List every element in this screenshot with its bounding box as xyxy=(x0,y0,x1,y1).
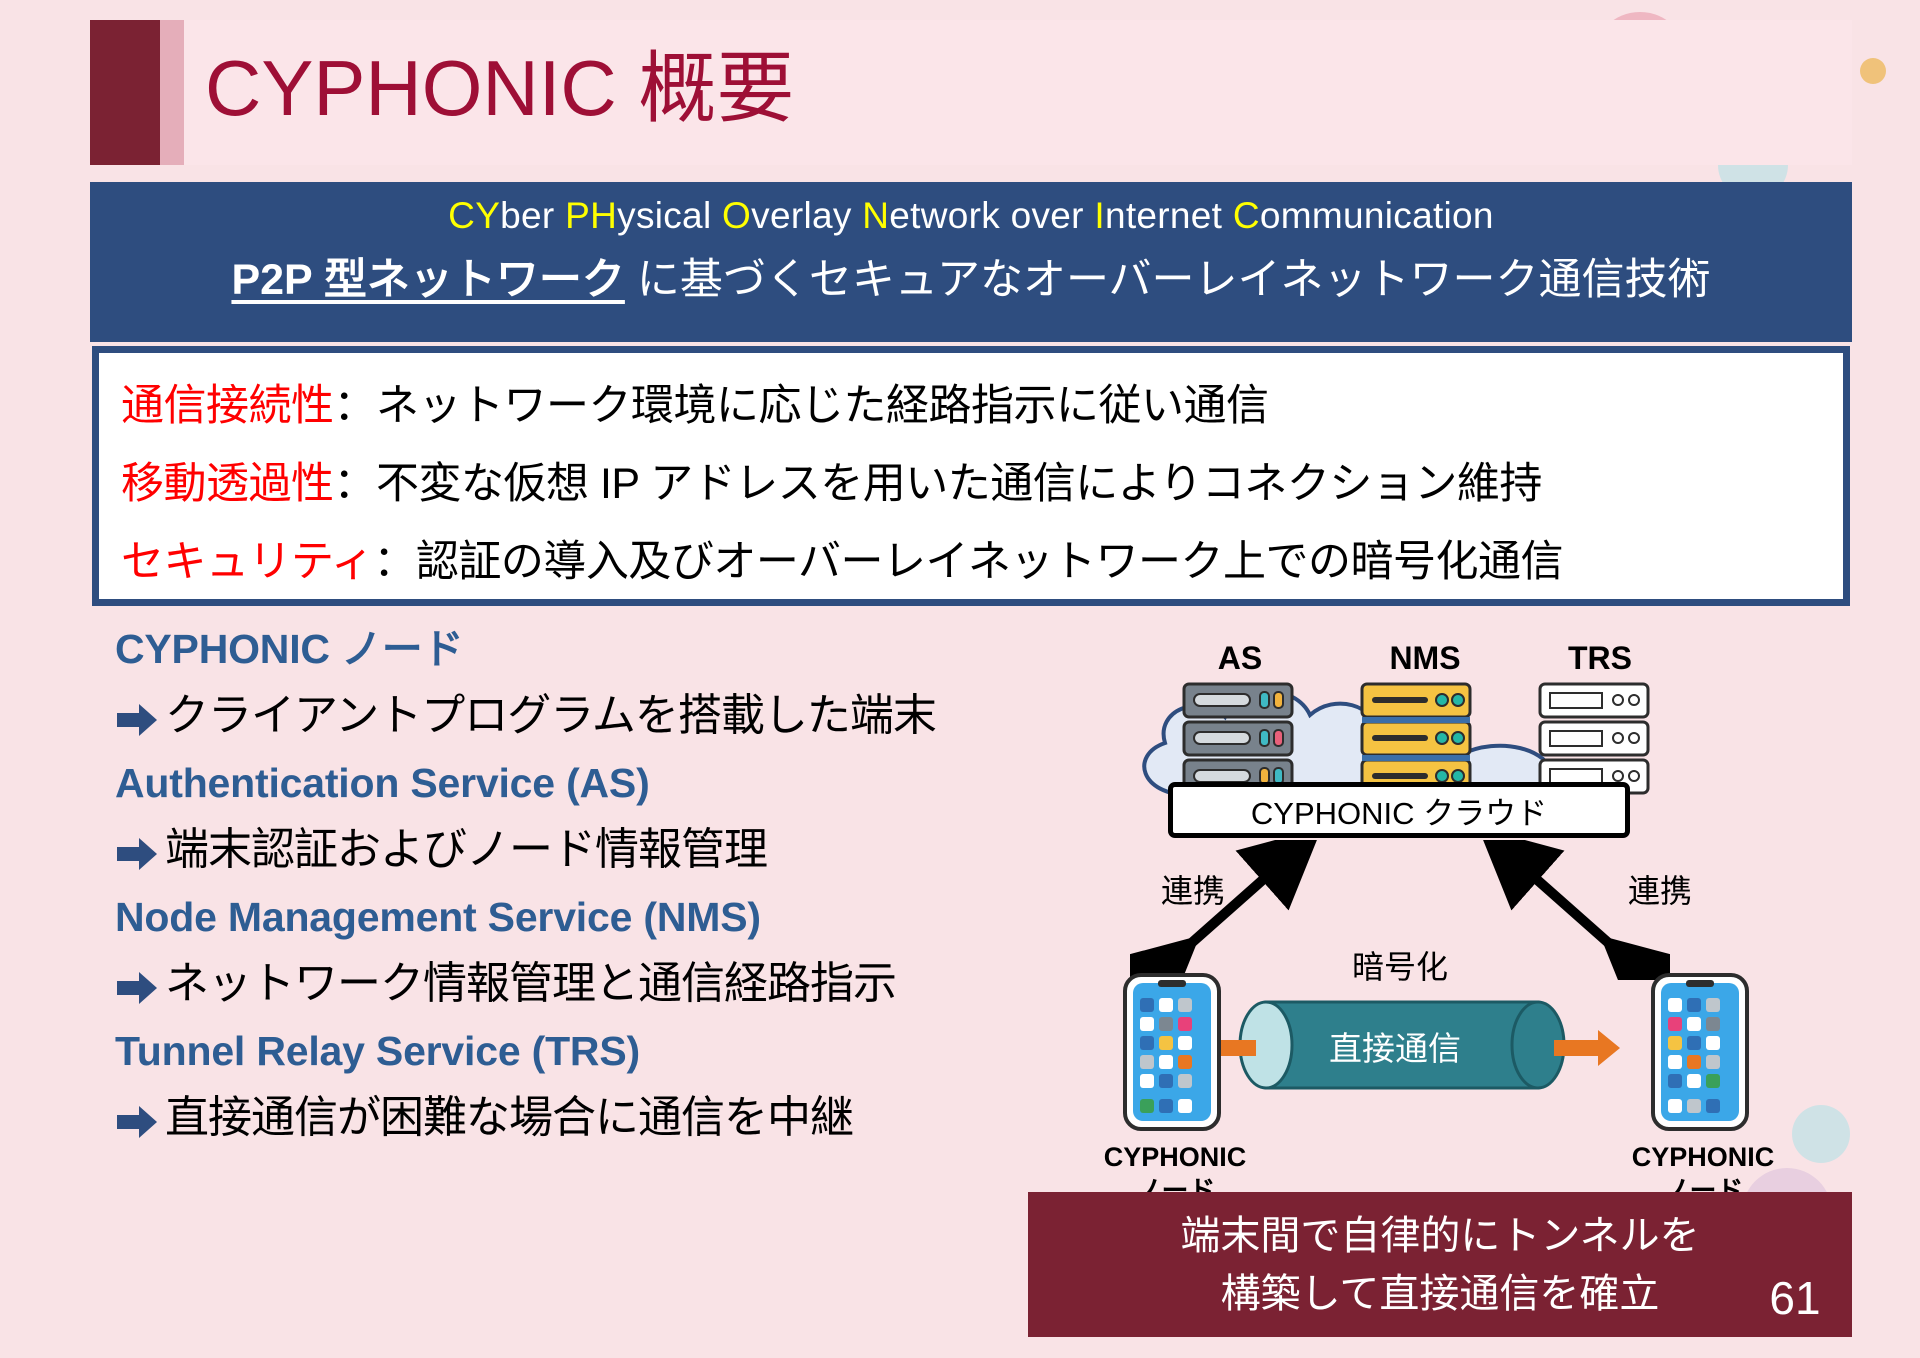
acronym-text: ommunication xyxy=(1260,195,1494,236)
service-heading-trs: Tunnel Relay Service (TRS) xyxy=(115,1020,1045,1082)
page-number: 61 xyxy=(1740,1262,1850,1334)
service-bullet-text: 端末認証およびノード情報管理 xyxy=(165,814,767,886)
feature-separator: ： xyxy=(373,538,416,586)
smartphone-left-icon xyxy=(1122,972,1222,1132)
server-label-as: AS xyxy=(1195,640,1285,677)
feature-key: 移動透過性 xyxy=(121,460,334,508)
callout-box: 端末間で自律的にトンネルを 構築して直接通信を確立 xyxy=(1028,1192,1852,1337)
acronym-text: ysical xyxy=(617,195,722,236)
decorative-blob-orange-small xyxy=(1860,58,1886,84)
feature-value: 認証の導入及びオーバーレイネットワーク上での暗号化通信 xyxy=(416,538,1563,586)
cloud-label: CYPHONIC クラウド xyxy=(1168,782,1630,838)
arrow-right-icon xyxy=(115,832,159,868)
page-title: CYPHONIC 概要 xyxy=(205,28,794,148)
tagline: P2P 型ネットワーク に基づくセキュアなオーバーレイネットワーク通信技術 xyxy=(90,237,1852,307)
smartphone-right-icon xyxy=(1650,972,1750,1132)
service-item: 直接通信が困難な場合に通信を中継 xyxy=(115,1082,1045,1154)
feature-value: ネットワーク環境に応じた経路指示に従い通信 xyxy=(376,382,1269,430)
feature-row: セキュリティ：認証の導入及びオーバーレイネットワーク上での暗号化通信 xyxy=(121,523,1821,601)
service-bullet-text: ネットワーク情報管理と通信経路指示 xyxy=(165,948,896,1020)
node-caption-left-line1: CYPHONIC xyxy=(1060,1140,1290,1174)
tagline-underlined: P2P 型ネットワーク xyxy=(231,256,624,304)
service-bullet-text: 直接通信が困難な場合に通信を中継 xyxy=(165,1082,853,1154)
acronym-text: ber xyxy=(500,195,565,236)
banner: CYber PHysical Overlay Network over Inte… xyxy=(90,182,1852,342)
server-label-nms: NMS xyxy=(1370,640,1480,677)
feature-value: 不変な仮想 IP アドレスを用いた通信によりコネクション維持 xyxy=(376,460,1542,508)
acronym-expansion: CYber PHysical Overlay Network over Inte… xyxy=(90,182,1852,237)
arrow-right-icon xyxy=(115,1100,159,1136)
services-list: CYPHONIC ノード クライアントプログラムを搭載した端末 Authenti… xyxy=(115,618,1045,1154)
callout-line-2: 構築して直接通信を確立 xyxy=(1221,1265,1660,1323)
slide-canvas: CYPHONIC 概要 CYber PHysical Overlay Netwo… xyxy=(0,0,1920,1358)
feature-row: 通信接続性：ネットワーク環境に応じた経路指示に従い通信 xyxy=(121,367,1821,445)
tunnel-label: 直接通信 xyxy=(1250,1010,1540,1082)
service-bullet-text: クライアントプログラムを搭載した端末 xyxy=(165,680,936,752)
callout-line-1: 端末間で自律的にトンネルを xyxy=(1180,1207,1699,1265)
feature-key: 通信接続性 xyxy=(121,382,334,430)
acronym-initial: CY xyxy=(448,195,500,236)
tagline-rest: に基づくセキュアなオーバーレイネットワーク通信技術 xyxy=(625,256,1711,304)
acronym-text: etwork over xyxy=(889,195,1094,236)
link-label-right: 連携 xyxy=(1605,866,1715,912)
arrow-right-icon xyxy=(115,966,159,1002)
acronym-text: nternet xyxy=(1105,195,1233,236)
acronym-initial: N xyxy=(862,195,889,236)
feature-row: 移動透過性：不変な仮想 IP アドレスを用いた通信によりコネクション維持 xyxy=(121,445,1821,523)
encryption-label: 暗号化 xyxy=(1320,942,1480,988)
acronym-initial: I xyxy=(1094,195,1105,236)
acronym-initial: C xyxy=(1233,195,1260,236)
title-accent-bar-light xyxy=(160,20,184,165)
feature-separator: ： xyxy=(334,460,377,508)
service-item: ネットワーク情報管理と通信経路指示 xyxy=(115,948,1045,1020)
orange-arrow-right-icon xyxy=(1552,1028,1622,1068)
server-label-trs: TRS xyxy=(1545,640,1655,677)
feature-key: セキュリティ xyxy=(121,538,373,586)
node-caption-right-line1: CYPHONIC xyxy=(1588,1140,1818,1174)
service-heading-nms: Node Management Service (NMS) xyxy=(115,886,1045,948)
title-accent-bar-dark xyxy=(90,20,160,165)
acronym-initial: O xyxy=(722,195,751,236)
arrow-right-icon xyxy=(115,698,159,734)
service-item: クライアントプログラムを搭載した端末 xyxy=(115,680,1045,752)
link-label-left: 連携 xyxy=(1138,866,1248,912)
acronym-text: verlay xyxy=(751,195,862,236)
feature-box: 通信接続性：ネットワーク環境に応じた経路指示に従い通信 移動透過性：不変な仮想 … xyxy=(92,346,1850,606)
acronym-initial: PH xyxy=(565,195,617,236)
service-heading-as: Authentication Service (AS) xyxy=(115,752,1045,814)
service-item: 端末認証およびノード情報管理 xyxy=(115,814,1045,886)
feature-separator: ： xyxy=(334,382,377,430)
service-heading-cyphonic-node: CYPHONIC ノード xyxy=(115,618,1045,680)
